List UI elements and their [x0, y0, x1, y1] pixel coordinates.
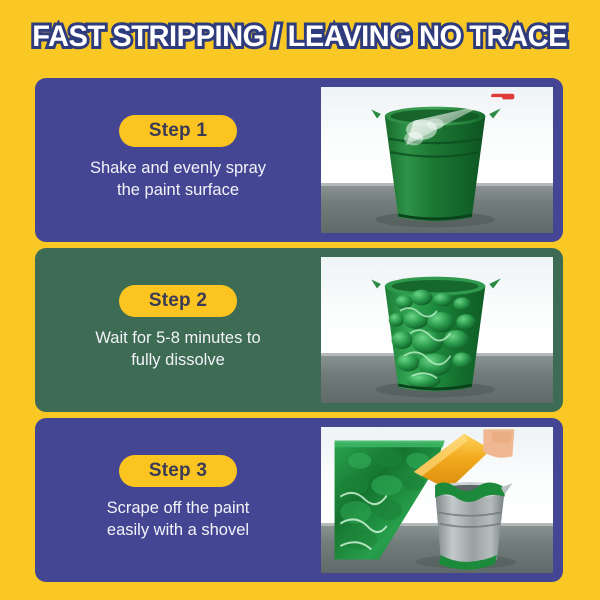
step-3-photo-frame [321, 418, 563, 582]
step-1-description-line-1: Shake and evenly spray [90, 159, 266, 177]
step-3-text-block: Step 3 Scrape off the paint easily with … [35, 418, 321, 582]
step-card-2[interactable]: Step 2 Wait for 5-8 minutes to fully dis… [35, 248, 563, 412]
step-3-description-line-1: Scrape off the paint [107, 499, 250, 517]
step-1-text-block: Step 1 Shake and evenly spray the paint … [35, 78, 321, 242]
step-card-1[interactable]: Step 1 Shake and evenly spray the paint … [35, 78, 563, 242]
header: FAST STRIPPING / LEAVING NO TRACE [0, 20, 600, 54]
step-2-description-line-1: Wait for 5-8 minutes to [95, 329, 260, 347]
page-title: FAST STRIPPING / LEAVING NO TRACE [33, 20, 568, 54]
step-1-photo [321, 87, 553, 233]
step-1-badge: Step 1 [119, 115, 237, 147]
step-2-text-block: Step 2 Wait for 5-8 minutes to fully dis… [35, 248, 321, 412]
step-1-photo-frame [321, 78, 563, 242]
step-3-description: Scrape off the paint easily with a shove… [107, 498, 250, 542]
step-3-description-line-2: easily with a shovel [107, 521, 249, 539]
step-2-description-line-2: fully dissolve [131, 351, 225, 369]
scraper-peeling-paint-illustration [321, 427, 553, 573]
step-2-description: Wait for 5-8 minutes to fully dissolve [95, 328, 260, 372]
step-1-description: Shake and evenly spray the paint surface [90, 158, 266, 202]
sprayed-bucket-illustration [321, 87, 553, 233]
step-2-photo [321, 257, 553, 403]
step-2-badge: Step 2 [119, 285, 237, 317]
step-2-photo-frame [321, 248, 563, 412]
blistered-paint-bucket-illustration [321, 257, 553, 403]
step-card-3[interactable]: Step 3 Scrape off the paint easily with … [35, 418, 563, 582]
steps-list: Step 1 Shake and evenly spray the paint … [35, 78, 563, 582]
step-3-badge: Step 3 [119, 455, 237, 487]
step-1-description-line-2: the paint surface [117, 181, 239, 199]
step-3-photo [321, 427, 553, 573]
